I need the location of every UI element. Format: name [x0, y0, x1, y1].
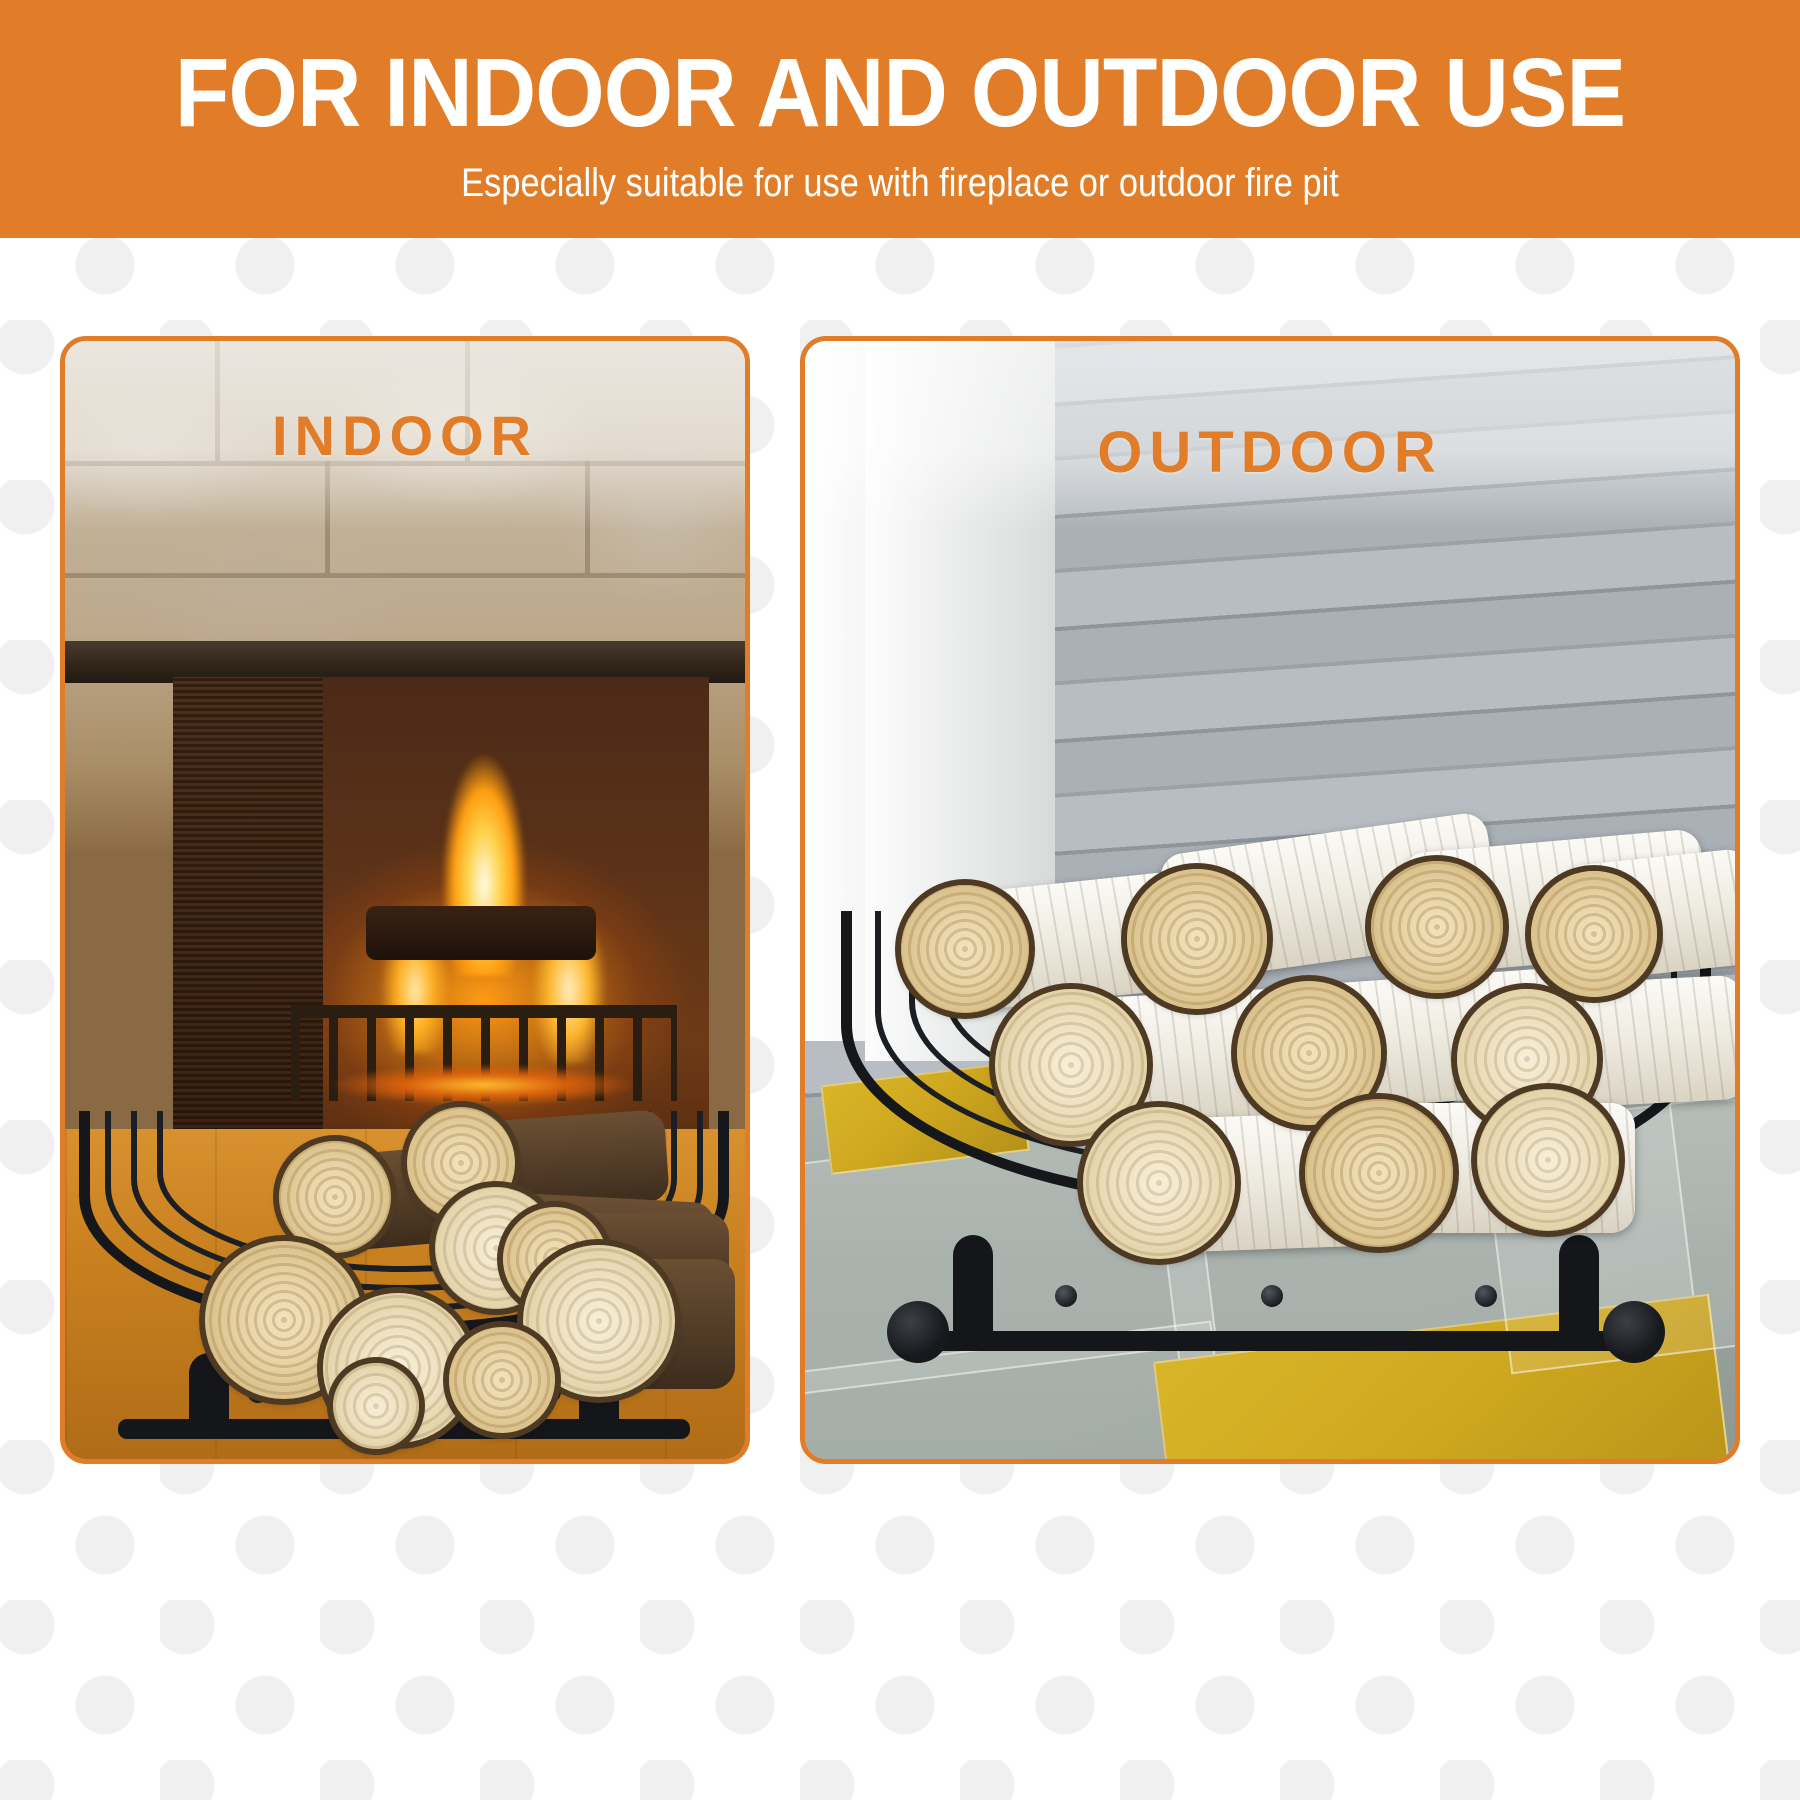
- log-end: [279, 1141, 391, 1253]
- log-end: [1127, 869, 1267, 1009]
- log-end: [1477, 1089, 1619, 1231]
- rack-base-rail: [893, 1331, 1659, 1351]
- panel-indoor: INDOOR: [60, 336, 750, 1464]
- panel-outdoor: OUTDOOR: [800, 336, 1740, 1464]
- log-end: [901, 885, 1029, 1013]
- log-end: [1305, 1099, 1453, 1247]
- panel-label-outdoor: OUTDOOR: [805, 419, 1735, 486]
- rack-bolt: [1261, 1285, 1283, 1307]
- burning-log: [366, 906, 596, 960]
- rack-wheel: [1603, 1301, 1665, 1363]
- embers: [312, 1062, 655, 1108]
- header-banner: FOR INDOOR AND OUTDOOR USE Especially su…: [0, 0, 1800, 238]
- log-end: [449, 1327, 555, 1433]
- log-end: [1531, 871, 1657, 997]
- page-background: FOR INDOOR AND OUTDOOR USE Especially su…: [0, 0, 1800, 1800]
- log-end: [1371, 861, 1503, 993]
- indoor-photo: INDOOR: [65, 341, 745, 1459]
- log-end: [333, 1363, 419, 1449]
- stone-seam: [585, 461, 590, 573]
- rack-bolt: [1475, 1285, 1497, 1307]
- rack-wheel: [887, 1301, 949, 1363]
- log-end: [1083, 1107, 1235, 1259]
- page-title: FOR INDOOR AND OUTDOOR USE: [72, 44, 1728, 141]
- rack-bolt: [1055, 1285, 1077, 1307]
- stone-seam: [325, 461, 330, 573]
- panel-label-indoor: INDOOR: [65, 403, 745, 468]
- page-subtitle: Especially suitable for use with firepla…: [126, 163, 1674, 203]
- stone-seam: [65, 573, 745, 578]
- grate-rail: [291, 1005, 677, 1018]
- outdoor-photo: OUTDOOR: [805, 341, 1735, 1459]
